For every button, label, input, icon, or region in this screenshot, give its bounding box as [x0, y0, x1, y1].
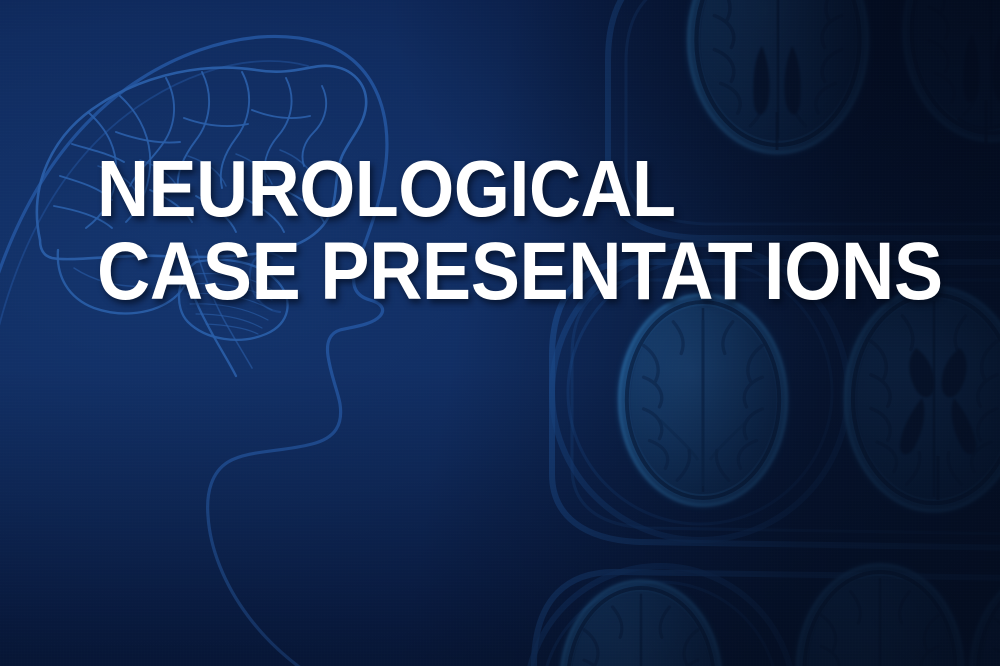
title-line-2-part-b: IONS — [764, 226, 943, 317]
title-line-1: NEUROLOGICAL — [97, 150, 943, 228]
banner-title: NEUROLOGICAL CASE PRESENTATIONS — [97, 150, 1000, 311]
background-film-grain — [0, 0, 1000, 666]
title-line-2-part-a: CASE PRESENTAT — [97, 226, 752, 317]
neurological-case-presentations-banner: NEUROLOGICAL CASE PRESENTATIONS — [0, 0, 1000, 666]
title-line-2: CASE PRESENTATIONS — [97, 232, 943, 312]
